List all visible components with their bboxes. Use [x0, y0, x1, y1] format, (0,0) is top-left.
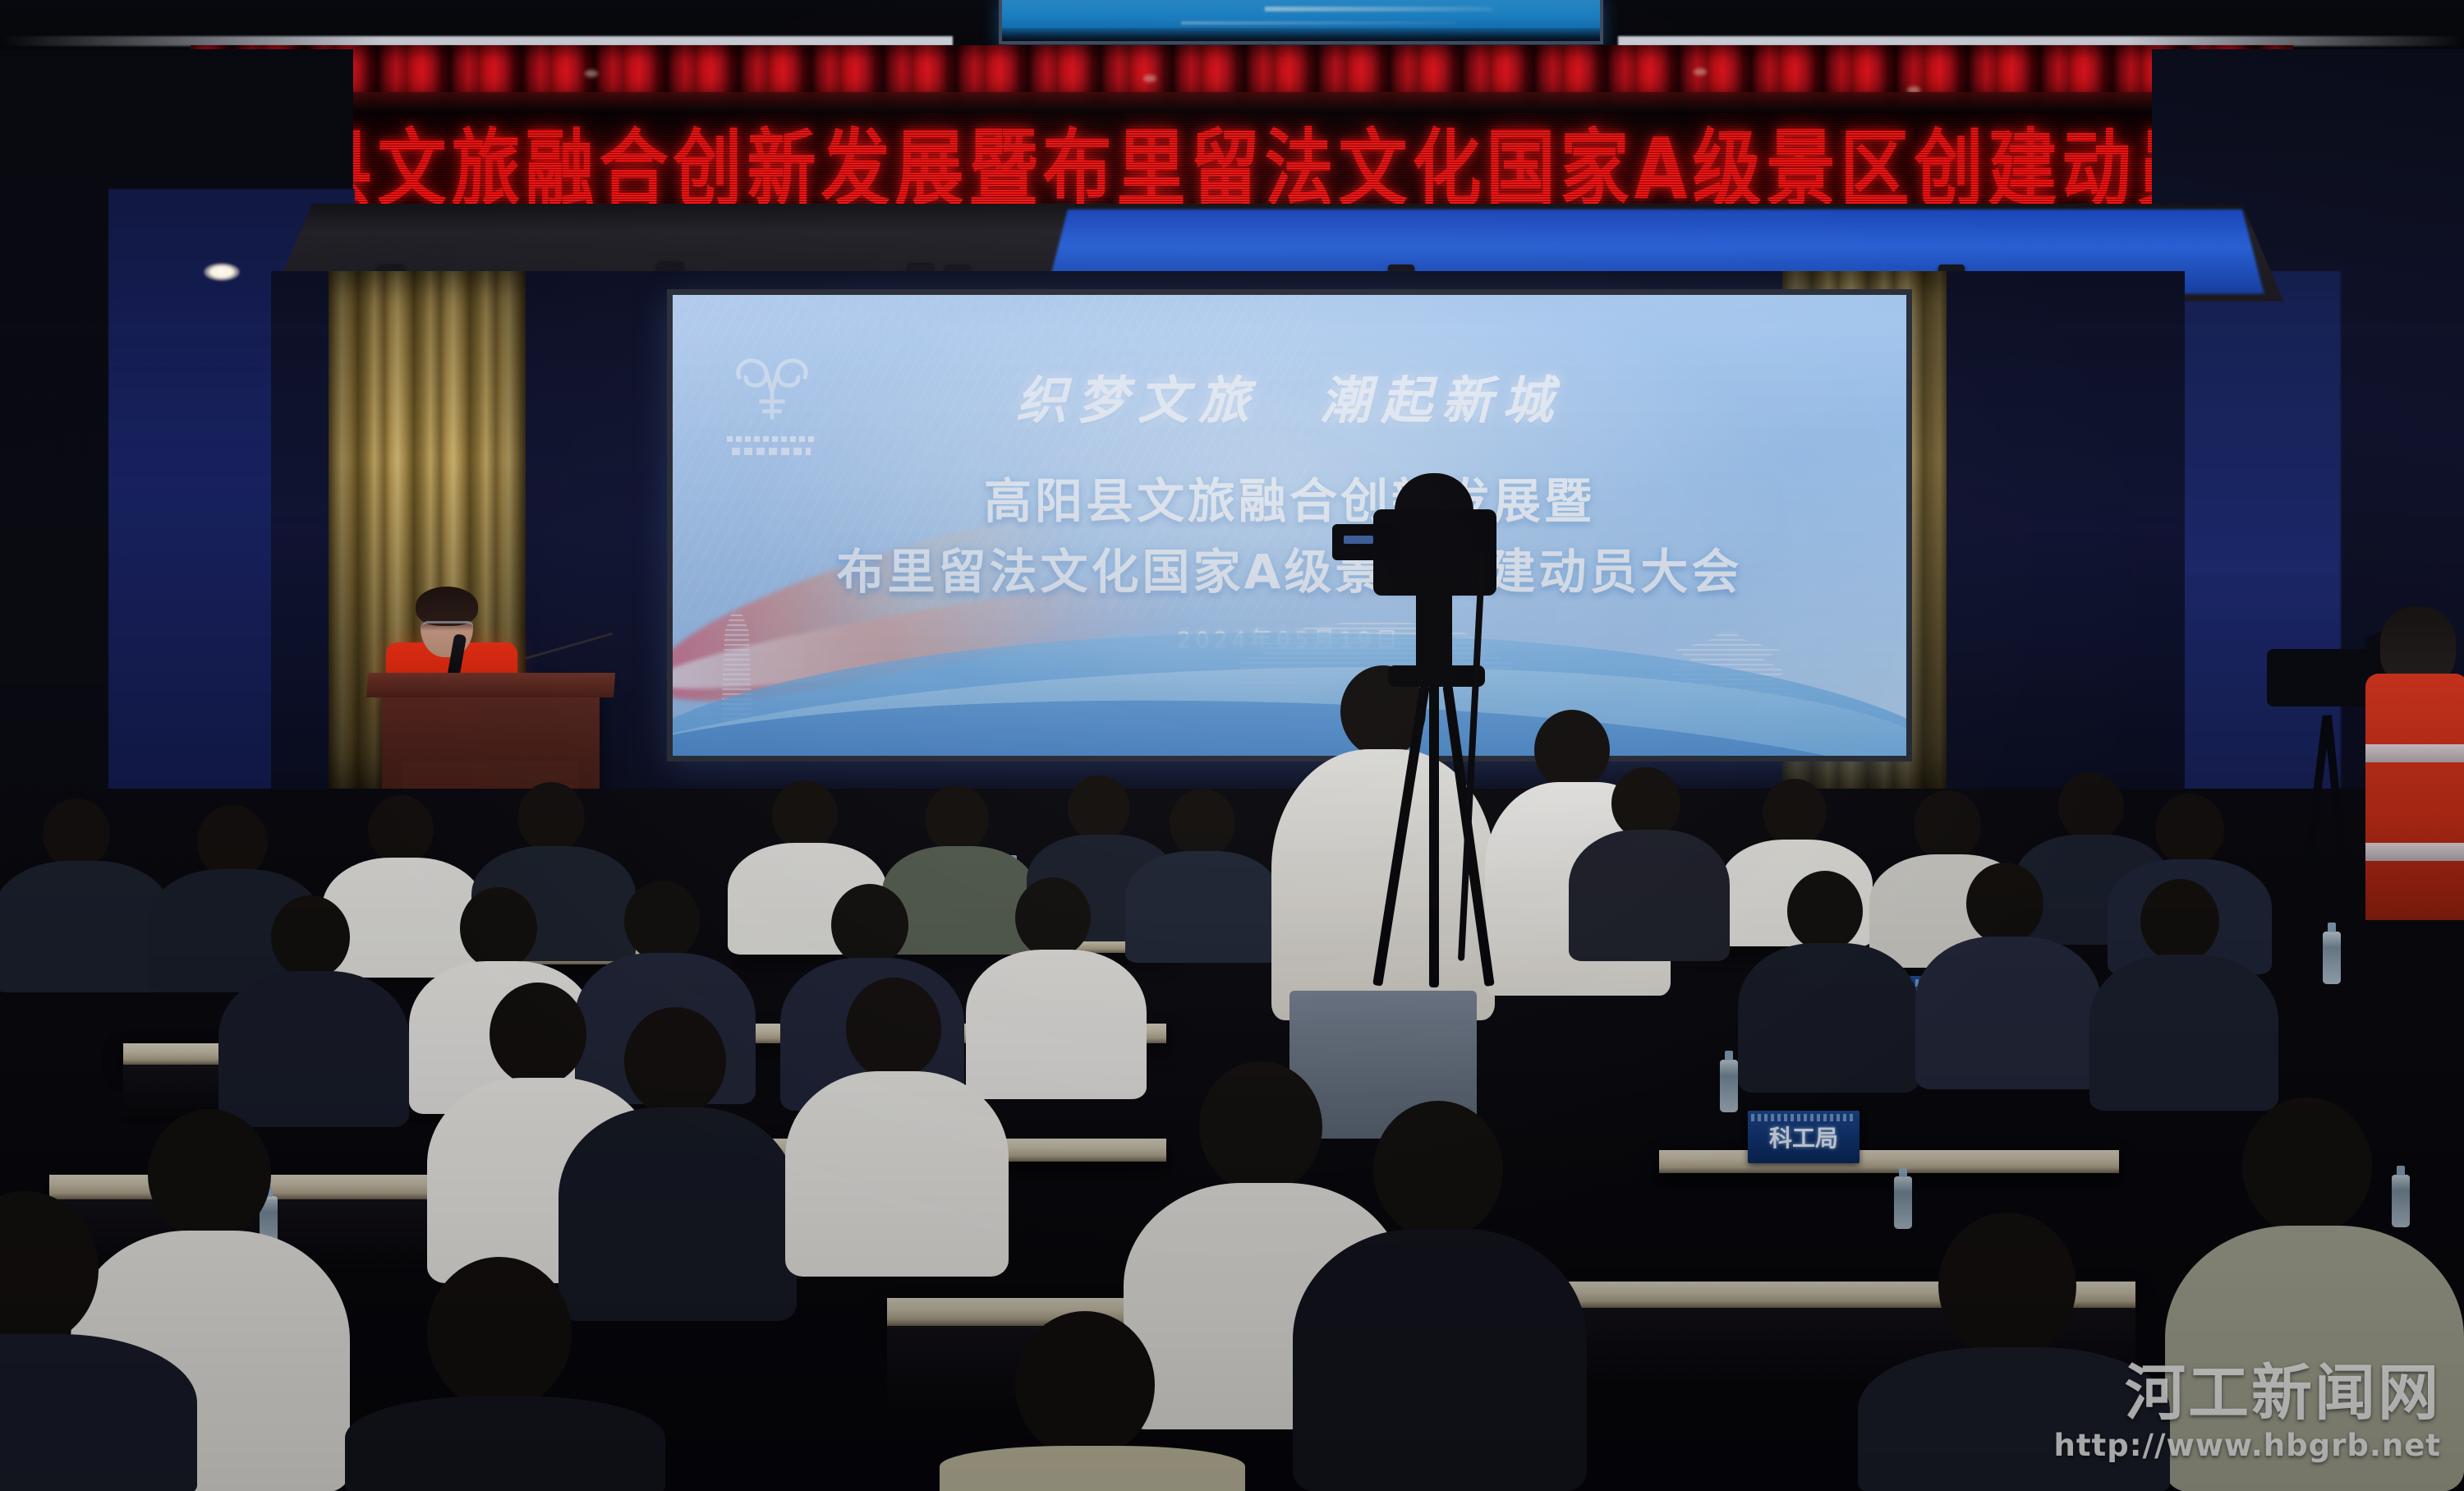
audience-head	[1015, 1311, 1155, 1459]
audience-head	[772, 780, 838, 849]
vest-reflective-band	[2365, 843, 2464, 861]
tripod-leg	[1429, 683, 1439, 987]
audience-head	[925, 785, 989, 853]
nameplate-label: 科工局	[1769, 1121, 1838, 1153]
water-bottle	[2392, 1175, 2410, 1227]
audience-body	[322, 858, 485, 978]
audience-head	[1787, 871, 1863, 951]
watermark: 河工新闻网 http://www.hbgrb.net	[2054, 1360, 2441, 1463]
audience-head	[1199, 1061, 1322, 1193]
projection-screen-frame: 织梦文旅 潮起新城 高阳县文旅融合创新发展暨 布里留法文化国家A级景区创建动员大…	[667, 289, 1912, 762]
audience-body	[785, 1071, 1009, 1277]
screen-title-block: 高阳县文旅融合创新发展暨 布里留法文化国家A级景区创建动员大会	[673, 466, 1906, 607]
audience-body	[559, 1107, 797, 1321]
tripod-leg	[1372, 684, 1430, 986]
audience-head	[624, 881, 700, 961]
audience-head	[1170, 789, 1235, 858]
screen-title-line-1: 高阳县文旅融合创新发展暨	[673, 466, 1906, 536]
speaker-glasses	[422, 621, 473, 633]
vest-reflective-band	[2365, 744, 2464, 762]
audience-head	[368, 795, 434, 864]
audience-head	[517, 782, 585, 853]
audience-body	[1125, 851, 1281, 963]
led-banner: 高阳县文旅融合创新发展暨布里留法文化国家A级景区创建动员大会	[123, 112, 2390, 212]
audience-head	[43, 798, 110, 869]
camera-operator-vest	[2365, 674, 2464, 920]
audience-head	[831, 884, 908, 966]
tripod-leg	[2324, 715, 2356, 952]
audience-body	[1569, 830, 1730, 961]
audience-head	[460, 887, 537, 969]
monitor-text-line-2	[1181, 21, 1456, 25]
desk-row	[1659, 1150, 2119, 1173]
audience-body	[1293, 1229, 1587, 1491]
audience-head	[2058, 772, 2124, 841]
audience-head	[1966, 863, 2043, 945]
audience-head	[427, 1257, 572, 1410]
downlight	[204, 263, 240, 281]
logo-subtext-line-1	[727, 436, 816, 442]
audience-body	[218, 971, 409, 1127]
pelmet-shadow	[191, 92, 2293, 113]
water-bottle	[1720, 1060, 1738, 1112]
audience-head	[846, 978, 941, 1079]
screen-title-line-2: 布里留法文化国家A级景区创建动员大会	[673, 536, 1906, 607]
logo-subtext-line-2	[732, 448, 811, 455]
led-banner-text: 高阳县文旅融合创新发展暨布里留法文化国家A级景区创建动员大会	[155, 112, 2357, 212]
conference-hall-photo: 高阳县文旅融合创新发展暨布里留法文化国家A级景区创建动员大会	[0, 0, 2464, 1491]
audience-body	[966, 950, 1147, 1099]
audience-head	[197, 805, 268, 879]
camera-lens-icon	[1332, 524, 1398, 560]
audience-head	[148, 1109, 271, 1240]
desk-nameplate: 科工局	[1748, 1111, 1859, 1163]
audience-head	[1015, 877, 1091, 958]
tripod-leg	[2293, 715, 2330, 952]
broadcast-camera-center	[1347, 460, 1519, 986]
water-bottle	[1894, 1176, 1912, 1229]
audience-head	[1914, 790, 1981, 861]
audience-head	[1763, 779, 1827, 846]
audience-body	[940, 1446, 1245, 1491]
screen-slogan: 织梦文旅 潮起新城	[673, 359, 1906, 433]
podium-top	[366, 673, 615, 697]
audience-head	[1938, 1213, 2076, 1359]
watermark-site-name: 河工新闻网	[2054, 1360, 2441, 1426]
audience-head	[490, 982, 586, 1086]
audience-head	[2242, 1098, 2372, 1236]
audience-body	[1915, 936, 2101, 1089]
audience-head	[271, 895, 350, 979]
audience-head	[1611, 767, 1680, 840]
audience-head	[1068, 775, 1130, 841]
audience-body	[345, 1397, 665, 1491]
audience-body	[1738, 943, 1919, 1093]
audience-head	[1373, 1101, 1503, 1239]
speaker-hair	[416, 587, 478, 626]
audience-head	[2155, 794, 2224, 866]
audience-head	[1534, 710, 1610, 790]
monitor-text-line-1	[1265, 7, 1492, 12]
audience-body	[0, 861, 172, 992]
watermark-url: http://www.hbgrb.net	[2054, 1428, 2441, 1463]
audience-head	[624, 1007, 726, 1116]
projection-screen: 织梦文旅 潮起新城 高阳县文旅融合创新发展暨 布里留法文化国家A级景区创建动员大…	[673, 295, 1906, 756]
audience-head	[2140, 879, 2219, 963]
audience-body	[2089, 955, 2278, 1111]
ceiling-hanging-monitor	[999, 0, 1603, 44]
